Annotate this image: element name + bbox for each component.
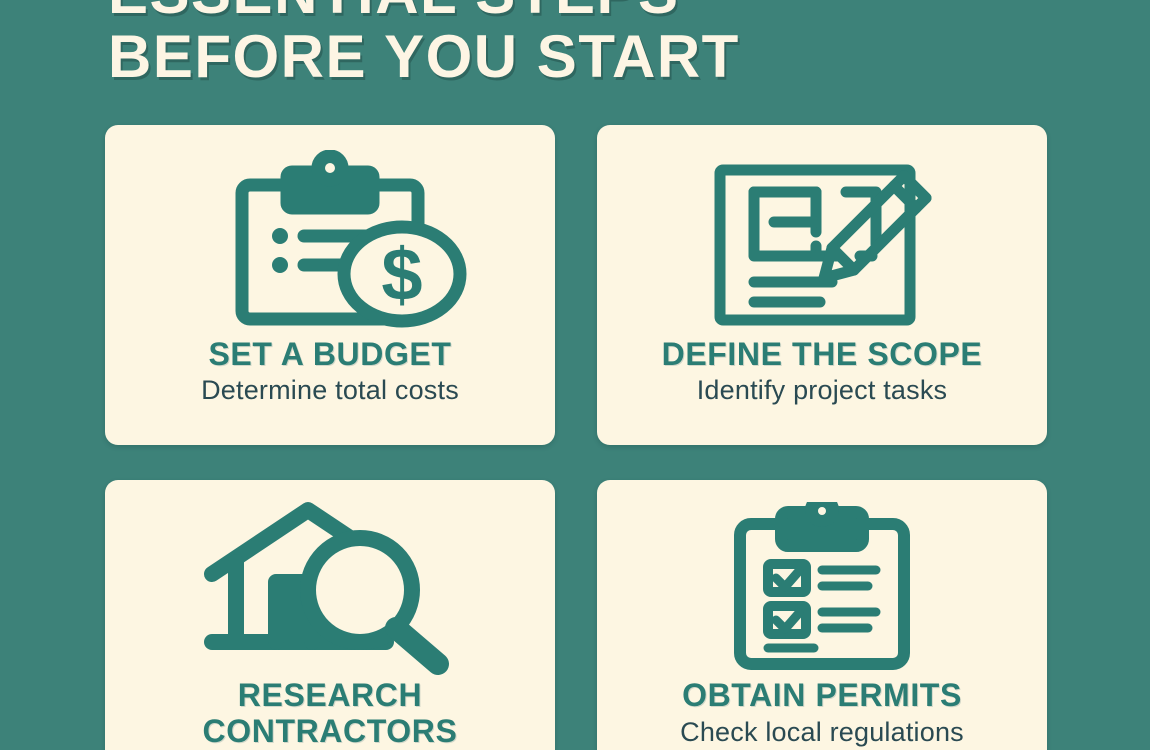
step-card-subtitle: Check local regulations <box>680 717 964 747</box>
step-card-research-contractors[interactable]: RESEARCH CONTRACTORS Compare quotes <box>105 480 555 750</box>
page-title-line-1: ESSENTIAL STEPS <box>108 0 1088 20</box>
step-card-define-the-scope[interactable]: DEFINE THE SCOPE Identify project tasks <box>597 125 1047 445</box>
step-card-title: RESEARCH CONTRACTORS <box>203 677 458 749</box>
page-title: ESSENTIAL STEPS BEFORE YOU START <box>108 0 1088 84</box>
step-card-obtain-permits[interactable]: OBTAIN PERMITS Check local regulations <box>597 480 1047 750</box>
steps-grid: $ SET A BUDGET Determine total costs <box>105 125 1045 750</box>
step-card-title: DEFINE THE SCOPE <box>662 337 983 371</box>
svg-text:$: $ <box>381 233 422 316</box>
step-card-subtitle: Determine total costs <box>201 375 459 405</box>
step-card-title: OBTAIN PERMITS <box>682 677 962 713</box>
clipboard-dollar-icon: $ <box>123 147 537 337</box>
step-card-subtitle: Identify project tasks <box>697 375 948 405</box>
house-magnifier-icon <box>123 502 537 677</box>
step-card-title: SET A BUDGET <box>208 337 451 371</box>
blueprint-pencil-icon <box>615 147 1029 337</box>
step-card-set-a-budget[interactable]: $ SET A BUDGET Determine total costs <box>105 125 555 445</box>
clipboard-checklist-icon <box>615 502 1029 677</box>
page-title-line-2: BEFORE YOU START <box>108 30 1088 84</box>
